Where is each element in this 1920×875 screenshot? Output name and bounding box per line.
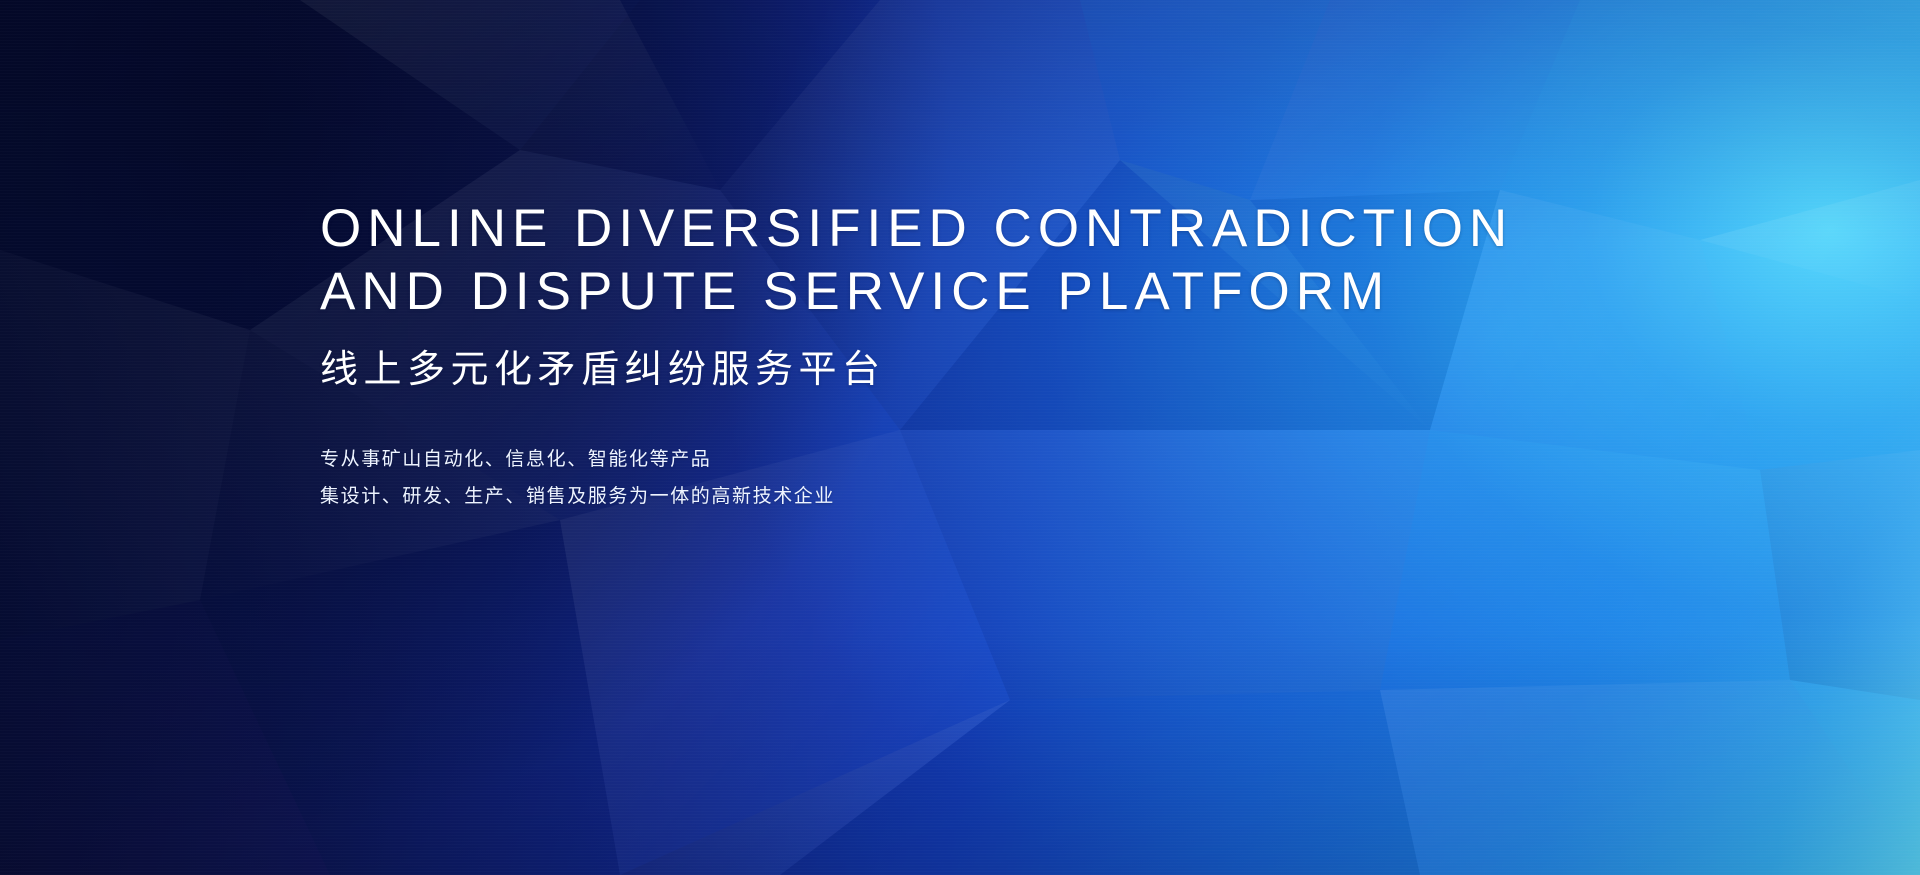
banner-headline: ONLINE DIVERSIFIED CONTRADICTION AND DIS…	[320, 198, 1720, 323]
banner-subtitle: 线上多元化矛盾纠纷服务平台	[320, 345, 1720, 396]
banner-headline-line-1: ONLINE DIVERSIFIED CONTRADICTION	[320, 198, 1720, 261]
banner-description: 专从事矿山自动化、信息化、智能化等产品 集设计、研发、生产、销售及服务为一体的高…	[320, 442, 1720, 515]
banner-headline-line-2: AND DISPUTE SERVICE PLATFORM	[320, 261, 1720, 324]
banner-content: ONLINE DIVERSIFIED CONTRADICTION AND DIS…	[320, 198, 1720, 515]
banner-description-line-1: 专从事矿山自动化、信息化、智能化等产品	[320, 442, 1720, 478]
hero-banner: ONLINE DIVERSIFIED CONTRADICTION AND DIS…	[0, 0, 1920, 875]
banner-description-line-2: 集设计、研发、生产、销售及服务为一体的高新技术企业	[320, 479, 1720, 515]
